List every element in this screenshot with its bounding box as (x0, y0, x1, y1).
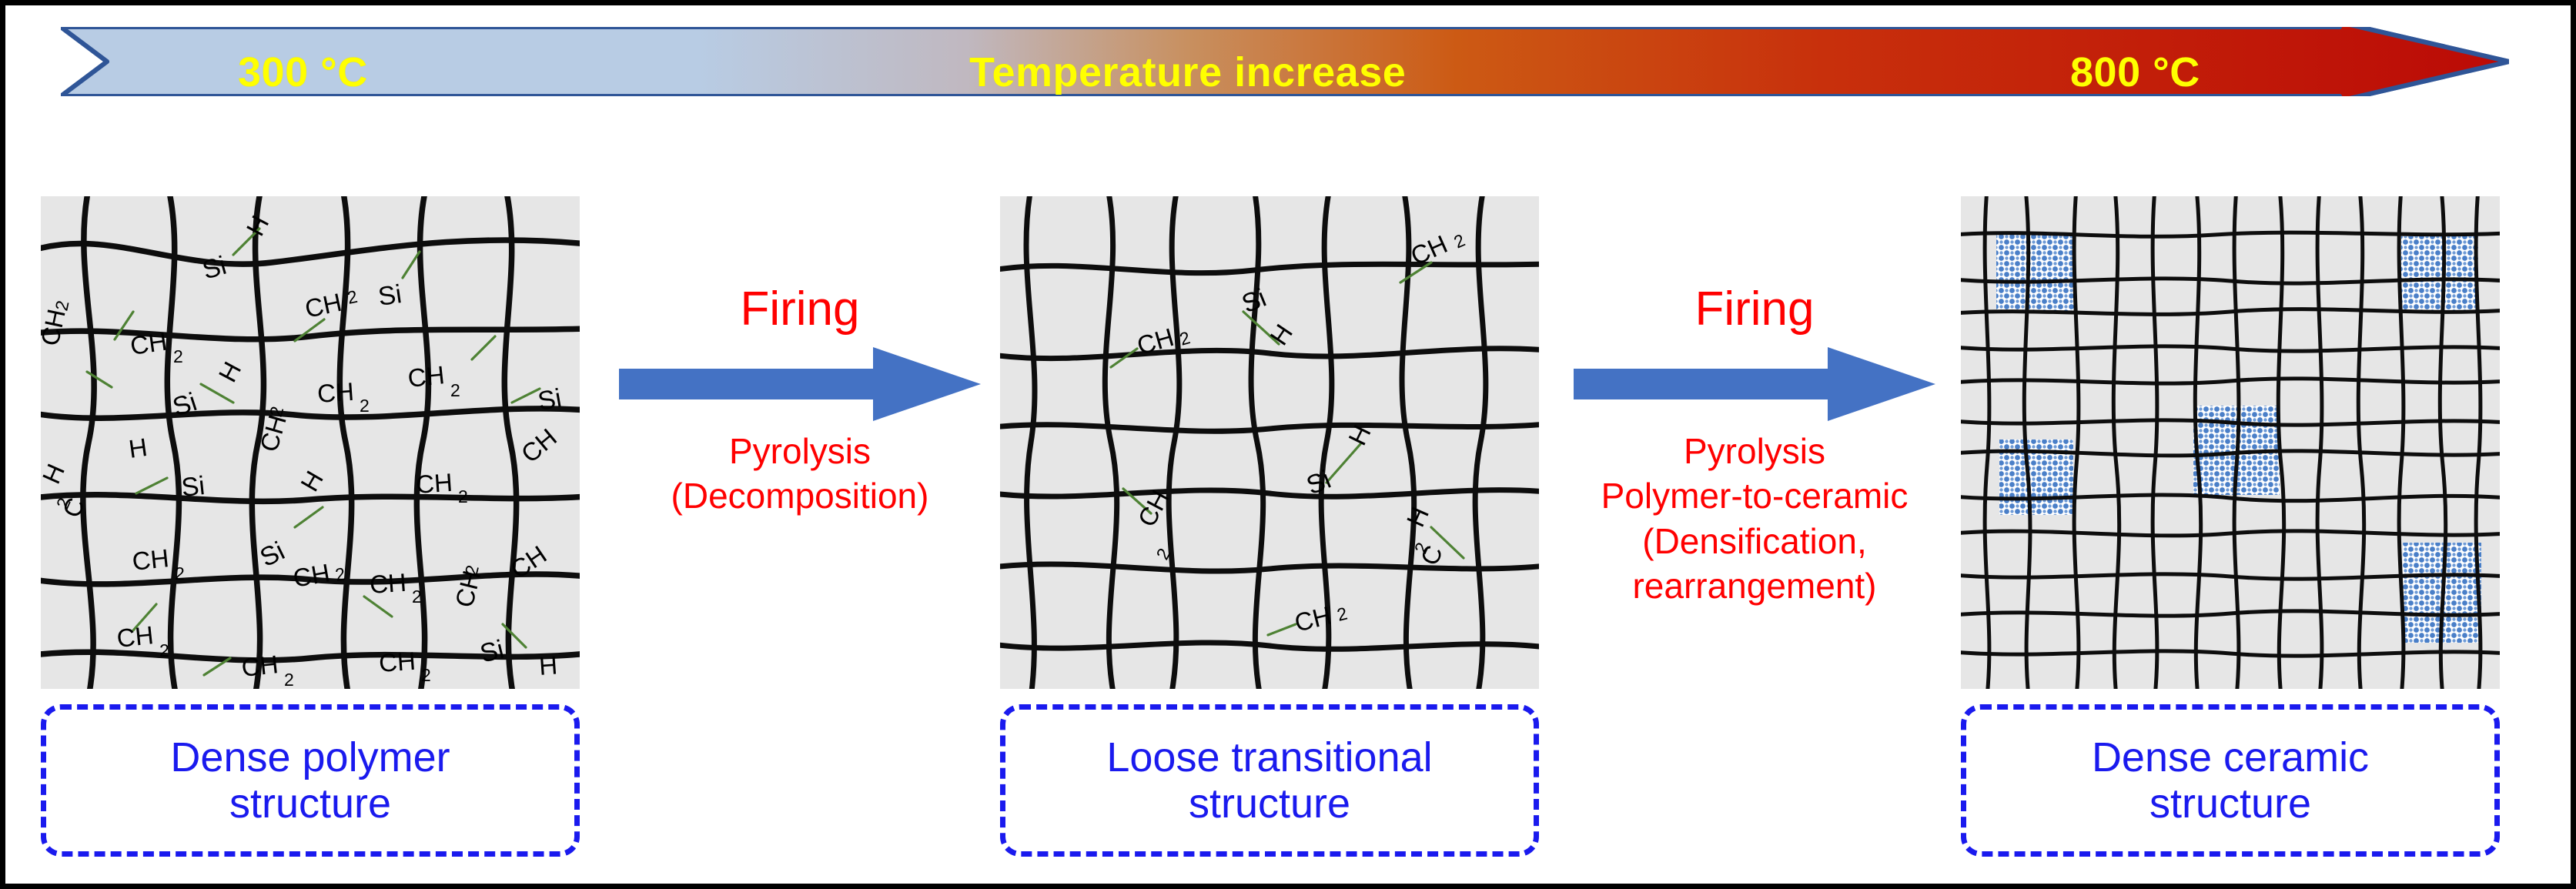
panel-loose-transitional-mesh: Si Si CH 2 H CH 2 H CH 2 H 2 C CH 2 (1000, 196, 1539, 689)
caption-line-2: structure (2149, 780, 2311, 827)
panel-dense-ceramic-mesh (1961, 196, 2500, 689)
firing-sub-line-2-2: (Densification, (1642, 520, 1866, 562)
svg-text:Si: Si (376, 279, 403, 312)
svg-text:2: 2 (360, 396, 370, 416)
caption-line-2: structure (1189, 780, 1350, 827)
svg-text:CH: CH (369, 568, 407, 599)
loose-transitional-network-drawing: Si Si CH 2 H CH 2 H CH 2 H 2 C CH 2 (1000, 196, 1539, 689)
svg-text:2: 2 (159, 640, 169, 660)
blue-right-arrow-icon (619, 346, 981, 423)
svg-text:H: H (127, 433, 149, 463)
caption-line-1: Dense polymer (170, 734, 450, 780)
panel-dense-polymer-mesh: Si Si Si Si Si Si Si H CH 2 CH 2 CH 2 (41, 196, 580, 689)
svg-text:Si: Si (180, 471, 206, 503)
svg-text:2: 2 (458, 486, 468, 506)
svg-text:CH: CH (415, 468, 453, 499)
svg-text:2: 2 (284, 670, 294, 689)
svg-text:CH: CH (378, 647, 417, 677)
svg-text:CH: CH (406, 360, 446, 393)
process-arrow-1 (619, 346, 981, 423)
firing-sub-line-2-0: Pyrolysis (1684, 430, 1825, 472)
svg-text:CH: CH (115, 620, 155, 653)
dense-polymer-network-drawing: Si Si Si Si Si Si Si H CH 2 CH 2 CH 2 (41, 196, 580, 689)
stage-dense-polymer: Si Si Si Si Si Si Si H CH 2 CH 2 CH 2 (41, 196, 580, 689)
svg-text:H: H (538, 650, 558, 680)
firing-sub-line-1-1: (Decomposition) (671, 475, 929, 516)
dense-ceramic-network-drawing (1961, 196, 2500, 689)
caption-line-1: Dense ceramic (2092, 734, 2369, 780)
firing-sub-line-2-3: rearrangement) (1632, 565, 1876, 607)
caption-dense-ceramic: Dense ceramic structure (1961, 704, 2500, 857)
process-arrow-2 (1574, 346, 1935, 423)
svg-text:CH: CH (316, 377, 355, 408)
firing-sub-line-2-1: Polymer-to-ceramic (1601, 475, 1909, 516)
stage-dense-ceramic (1961, 196, 2500, 689)
caption-line-2: structure (229, 780, 391, 827)
svg-text:2: 2 (412, 587, 422, 607)
transition-firing-decomposition: Firing Pyrolysis (Decomposition) (600, 196, 1000, 704)
svg-text:CH: CH (240, 650, 279, 682)
svg-text:2: 2 (450, 380, 460, 400)
firing-sub-line-1-0: Pyrolysis (729, 430, 871, 472)
stage-loose-transitional: Si Si CH 2 H CH 2 H CH 2 H 2 C CH 2 (1000, 196, 1539, 689)
temperature-increase-banner: 300 °C Temperature increase 800 °C (61, 27, 2509, 96)
svg-text:2: 2 (421, 665, 431, 685)
banner-start-temperature: 300 °C (238, 52, 368, 93)
svg-text:CH: CH (131, 543, 170, 576)
banner-end-temperature: 800 °C (2070, 52, 2200, 93)
svg-text:2: 2 (175, 563, 185, 583)
blue-right-arrow-icon (1574, 346, 1935, 423)
caption-loose-transitional: Loose transitional structure (1000, 704, 1539, 857)
caption-dense-polymer: Dense polymer structure (41, 704, 580, 857)
svg-text:2: 2 (173, 346, 183, 366)
firing-title-1: Firing (740, 286, 859, 333)
caption-line-1: Loose transitional (1106, 734, 1432, 780)
figure-canvas: 300 °C Temperature increase 800 °C (0, 0, 2576, 889)
firing-title-2: Firing (1694, 286, 1814, 333)
svg-text:CH: CH (129, 327, 169, 360)
transition-firing-densification: Firing Pyrolysis Polymer-to-ceramic (Den… (1554, 196, 1955, 704)
banner-middle-label: Temperature increase (969, 52, 1406, 93)
